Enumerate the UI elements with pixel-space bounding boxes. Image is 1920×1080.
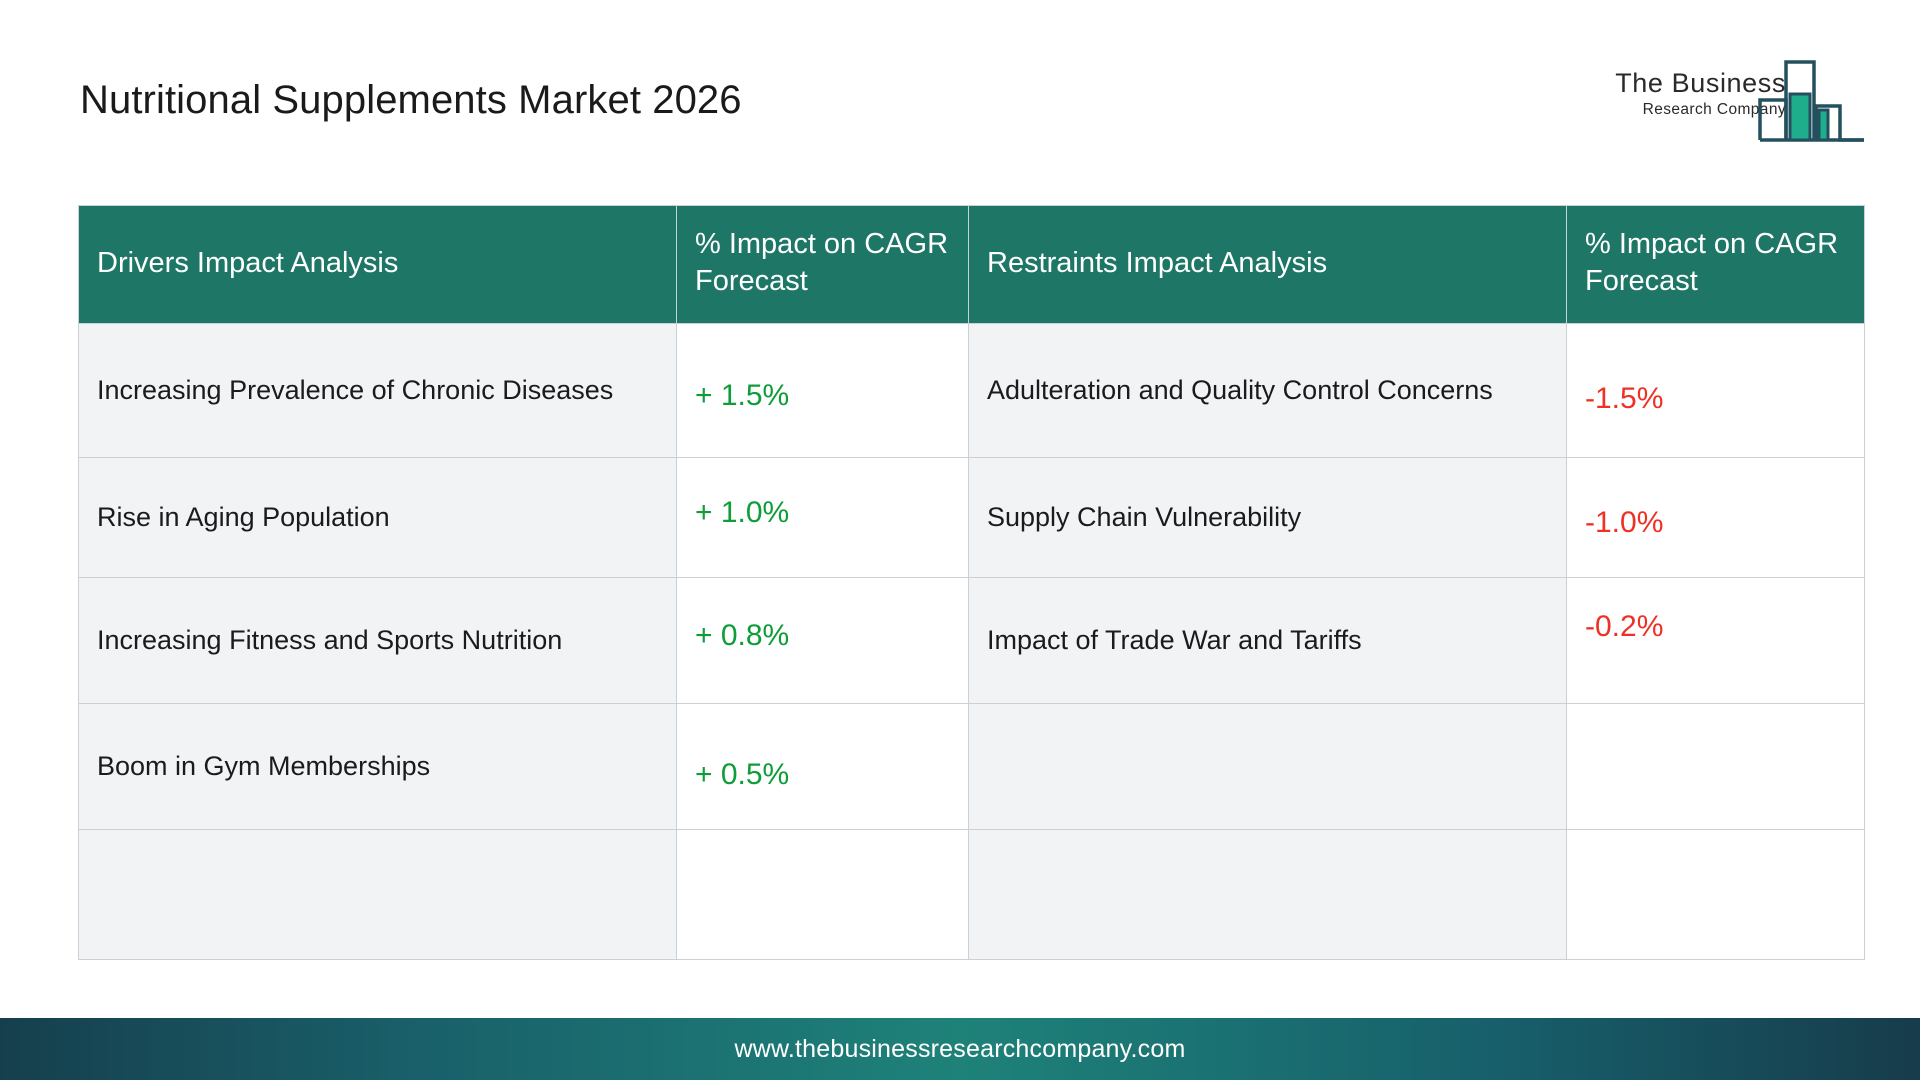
table-row: Rise in Aging Population + 1.0% Supply C… bbox=[79, 458, 1865, 578]
table-body: Increasing Prevalence of Chronic Disease… bbox=[79, 324, 1865, 960]
restraint-label-cell: Impact of Trade War and Tariffs bbox=[969, 578, 1567, 704]
table-row: Increasing Prevalence of Chronic Disease… bbox=[79, 324, 1865, 458]
restraint-label-cell: Supply Chain Vulnerability bbox=[969, 458, 1567, 578]
table-row bbox=[79, 830, 1865, 960]
impact-analysis-table-wrapper: Drivers Impact Analysis % Impact on CAGR… bbox=[78, 205, 1864, 960]
restraint-impact-value: -1.0% bbox=[1585, 503, 1846, 542]
driver-label-cell: Boom in Gym Memberships bbox=[79, 704, 677, 830]
restraint-label-cell bbox=[969, 830, 1567, 960]
driver-impact-value: + 0.8% bbox=[695, 616, 950, 655]
impact-analysis-table: Drivers Impact Analysis % Impact on CAGR… bbox=[78, 205, 1865, 960]
column-header-restraints-impact: % Impact on CAGR Forecast bbox=[1567, 206, 1865, 324]
column-header-drivers: Drivers Impact Analysis bbox=[79, 206, 677, 324]
driver-label-cell bbox=[79, 830, 677, 960]
table-row: Increasing Fitness and Sports Nutrition … bbox=[79, 578, 1865, 704]
driver-impact-cell: + 0.8% bbox=[677, 578, 969, 704]
table-header-row: Drivers Impact Analysis % Impact on CAGR… bbox=[79, 206, 1865, 324]
driver-impact-value: + 1.5% bbox=[695, 376, 950, 415]
column-header-restraints: Restraints Impact Analysis bbox=[969, 206, 1567, 324]
table-row: Boom in Gym Memberships + 0.5% bbox=[79, 704, 1865, 830]
driver-impact-value: + 0.5% bbox=[695, 755, 950, 794]
driver-label-cell: Increasing Fitness and Sports Nutrition bbox=[79, 578, 677, 704]
restraint-impact-cell: -0.2% bbox=[1567, 578, 1865, 704]
footer-website-url[interactable]: www.thebusinessresearchcompany.com bbox=[735, 1035, 1186, 1064]
driver-impact-cell: + 1.0% bbox=[677, 458, 969, 578]
footer-bar: www.thebusinessresearchcompany.com bbox=[0, 1018, 1920, 1080]
driver-label-cell: Increasing Prevalence of Chronic Disease… bbox=[79, 324, 677, 458]
restraint-label-cell: Adulteration and Quality Control Concern… bbox=[969, 324, 1567, 458]
table-header: Drivers Impact Analysis % Impact on CAGR… bbox=[79, 206, 1865, 324]
column-header-drivers-impact: % Impact on CAGR Forecast bbox=[677, 206, 969, 324]
restraint-impact-cell bbox=[1567, 830, 1865, 960]
slide-root: Nutritional Supplements Market 2026 The … bbox=[0, 0, 1920, 1080]
restraint-impact-cell bbox=[1567, 704, 1865, 830]
driver-impact-cell bbox=[677, 830, 969, 960]
driver-label-cell: Rise in Aging Population bbox=[79, 458, 677, 578]
bar-chart-logo-mark bbox=[1756, 52, 1868, 144]
restraint-impact-value: -1.5% bbox=[1585, 379, 1846, 418]
driver-impact-value: + 1.0% bbox=[695, 493, 950, 532]
restraint-impact-value: -0.2% bbox=[1585, 607, 1846, 646]
driver-impact-cell: + 1.5% bbox=[677, 324, 969, 458]
driver-impact-cell: + 0.5% bbox=[677, 704, 969, 830]
restraint-impact-cell: -1.5% bbox=[1567, 324, 1865, 458]
restraint-label-cell bbox=[969, 704, 1567, 830]
brand-logo: The Business Research Company bbox=[1580, 52, 1868, 144]
restraint-impact-cell: -1.0% bbox=[1567, 458, 1865, 578]
page-title: Nutritional Supplements Market 2026 bbox=[80, 78, 742, 123]
